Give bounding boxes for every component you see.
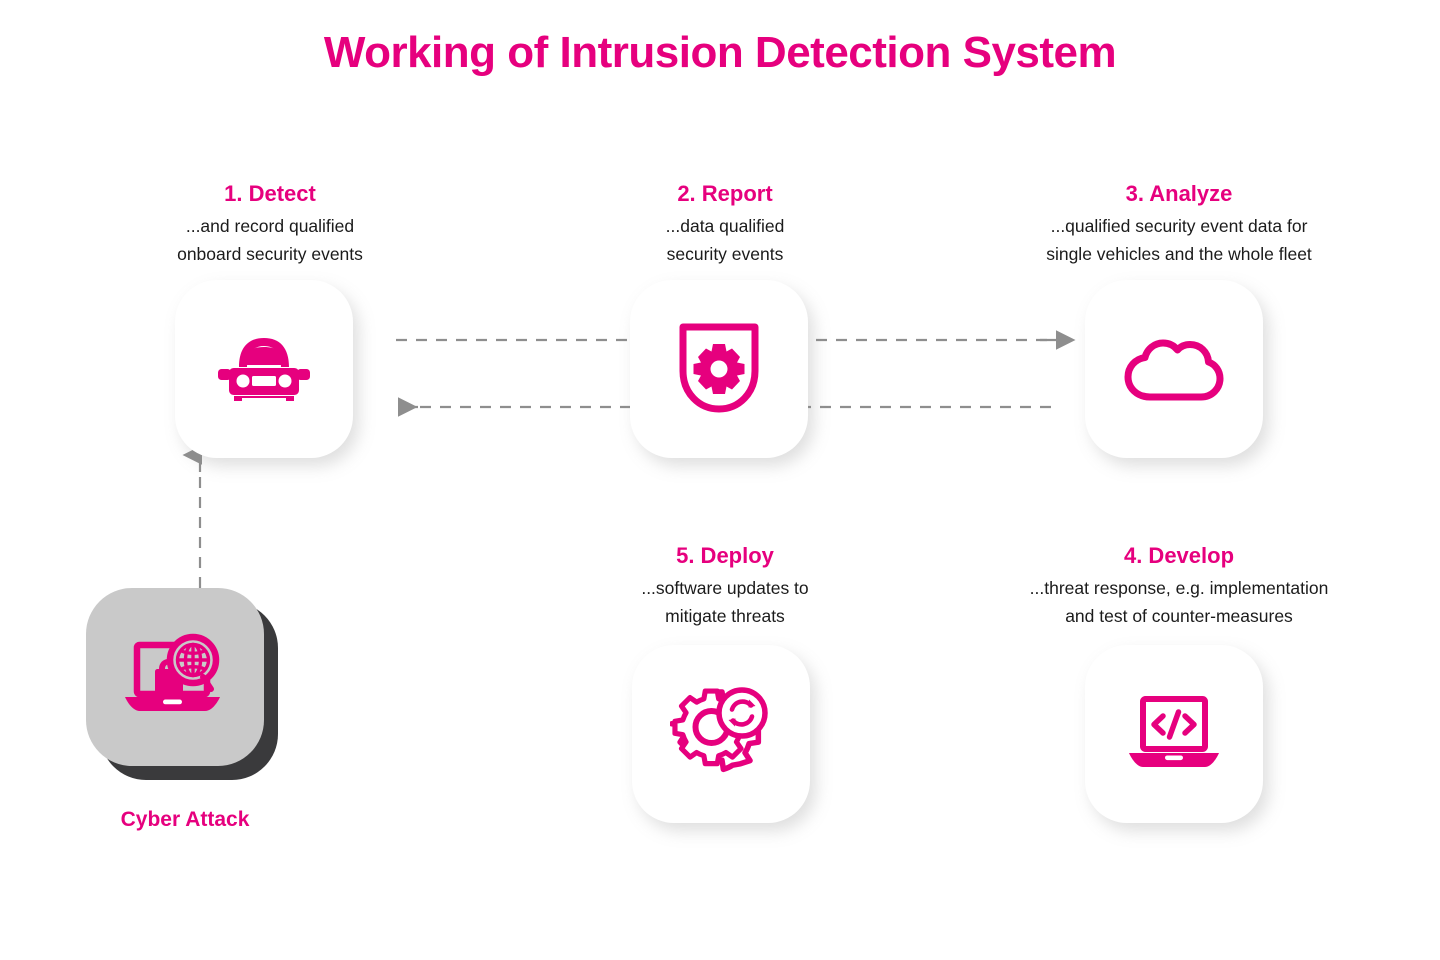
step-heading-detect: 1. Detect <box>110 180 430 208</box>
step-description-detect: ...and record qualified onboard security… <box>110 212 430 268</box>
diagram-canvas: Working of Intrusion Detection System 1.… <box>0 0 1440 960</box>
card-develop[interactable] <box>1085 645 1263 823</box>
step-text-develop: 4. Develop ...threat response, e.g. impl… <box>985 542 1373 630</box>
step-description-deploy: ...software updates to mitigate threats <box>565 574 885 630</box>
step-heading-deploy: 5. Deploy <box>565 542 885 570</box>
step-text-report: 2. Report ...data qualified security eve… <box>565 180 885 268</box>
card-cyber-attack[interactable] <box>86 588 264 766</box>
cloud-icon <box>1120 331 1228 407</box>
step-heading-report: 2. Report <box>565 180 885 208</box>
car-icon <box>212 327 316 411</box>
card-deploy[interactable] <box>632 645 810 823</box>
step-text-detect: 1. Detect ...and record qualified onboar… <box>110 180 430 268</box>
card-detect[interactable] <box>175 280 353 458</box>
step-description-report: ...data qualified security events <box>565 212 885 268</box>
laptop-code-icon <box>1121 691 1227 777</box>
cyber-attack-label: Cyber Attack <box>50 808 320 832</box>
step-text-analyze: 3. Analyze ...qualified security event d… <box>988 180 1370 268</box>
gear-refresh-icon <box>670 685 772 783</box>
card-report[interactable] <box>630 280 808 458</box>
shield-gear-icon <box>673 319 765 419</box>
step-heading-analyze: 3. Analyze <box>988 180 1370 208</box>
step-description-develop: ...threat response, e.g. implementation … <box>985 574 1373 630</box>
laptop-lock-globe-icon <box>119 631 231 723</box>
card-analyze[interactable] <box>1085 280 1263 458</box>
step-heading-develop: 4. Develop <box>985 542 1373 570</box>
step-text-deploy: 5. Deploy ...software updates to mitigat… <box>565 542 885 630</box>
step-description-analyze: ...qualified security event data for sin… <box>988 212 1370 268</box>
page-title: Working of Intrusion Detection System <box>0 28 1440 78</box>
